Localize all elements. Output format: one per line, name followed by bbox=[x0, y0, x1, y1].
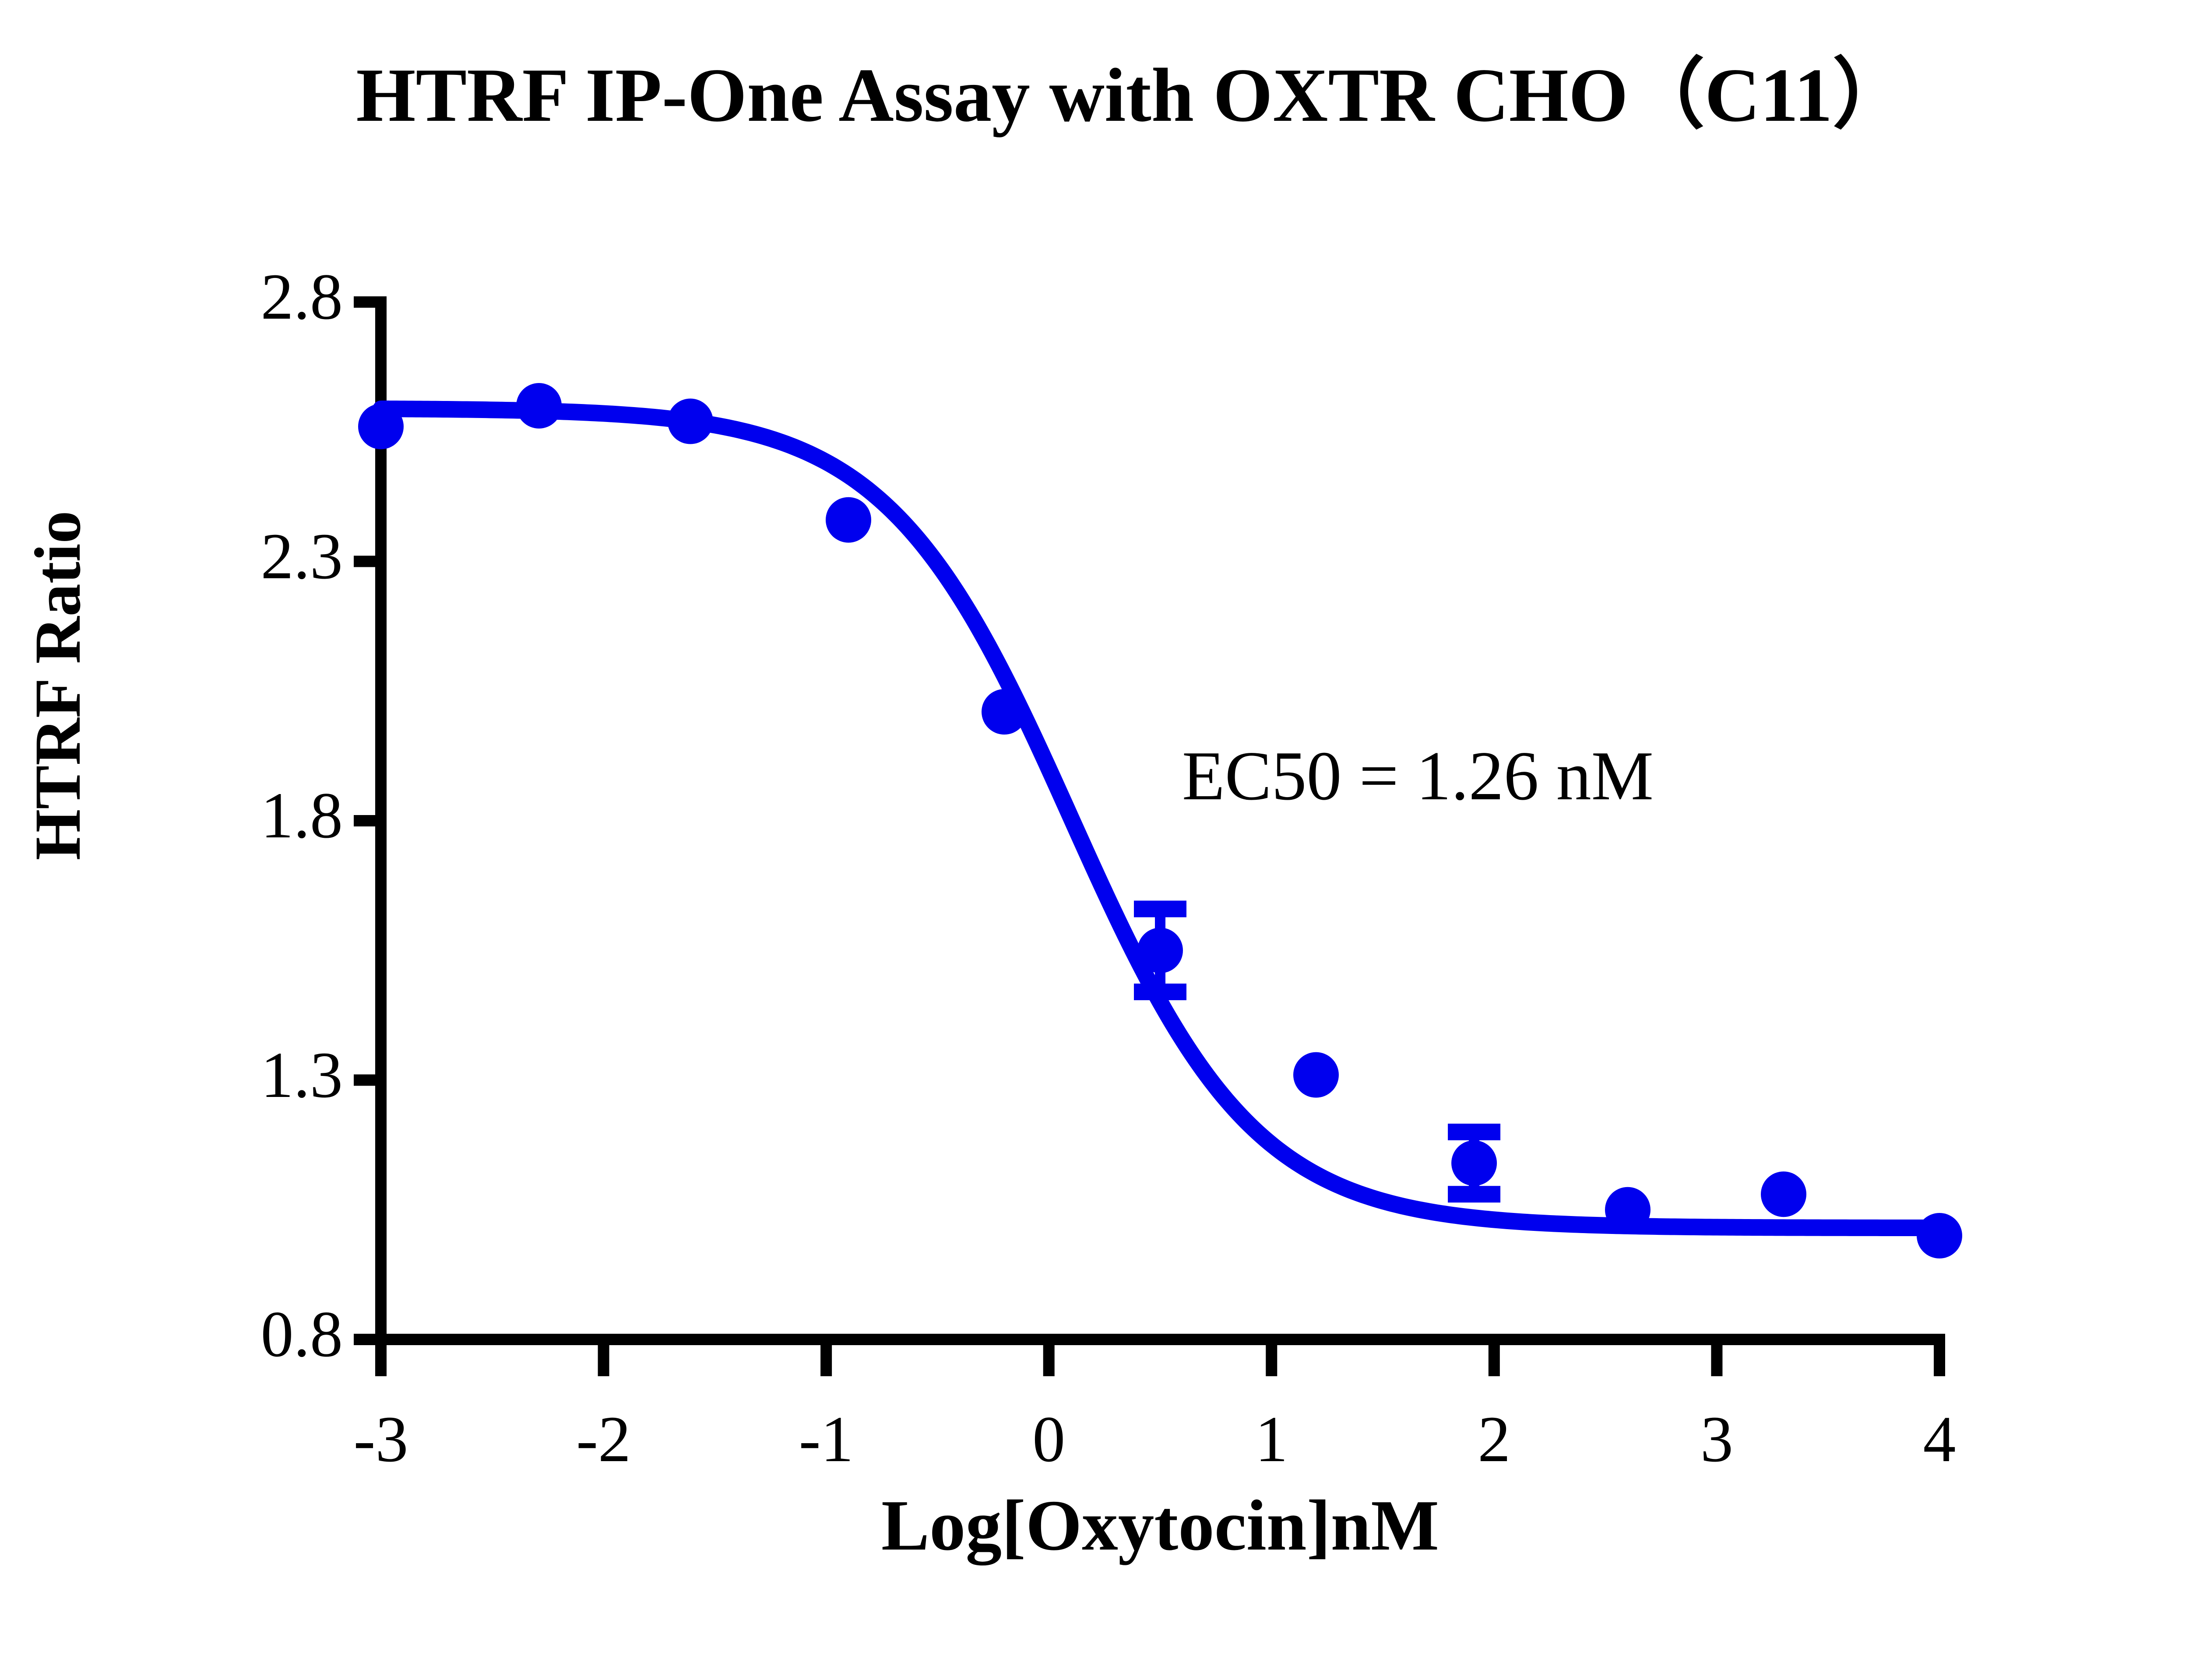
data-points-group bbox=[358, 383, 1962, 1258]
data-point bbox=[1451, 1140, 1497, 1186]
data-point bbox=[1605, 1187, 1651, 1233]
data-point bbox=[1761, 1171, 1806, 1217]
chart-canvas: HTRF IP-One Assay with OXTR CHO（C11） HTR… bbox=[0, 0, 2189, 1680]
data-point bbox=[1917, 1213, 1962, 1258]
data-point bbox=[1137, 928, 1183, 973]
axes-group bbox=[354, 296, 1945, 1376]
fit-curve bbox=[381, 409, 1939, 1228]
fit-curve-group bbox=[381, 409, 1939, 1228]
data-point bbox=[826, 497, 871, 543]
plot-area bbox=[0, 0, 2189, 1680]
data-point bbox=[358, 404, 404, 449]
data-point bbox=[516, 383, 562, 429]
data-point bbox=[1293, 1052, 1339, 1098]
data-point bbox=[982, 689, 1027, 735]
data-point bbox=[668, 399, 713, 444]
